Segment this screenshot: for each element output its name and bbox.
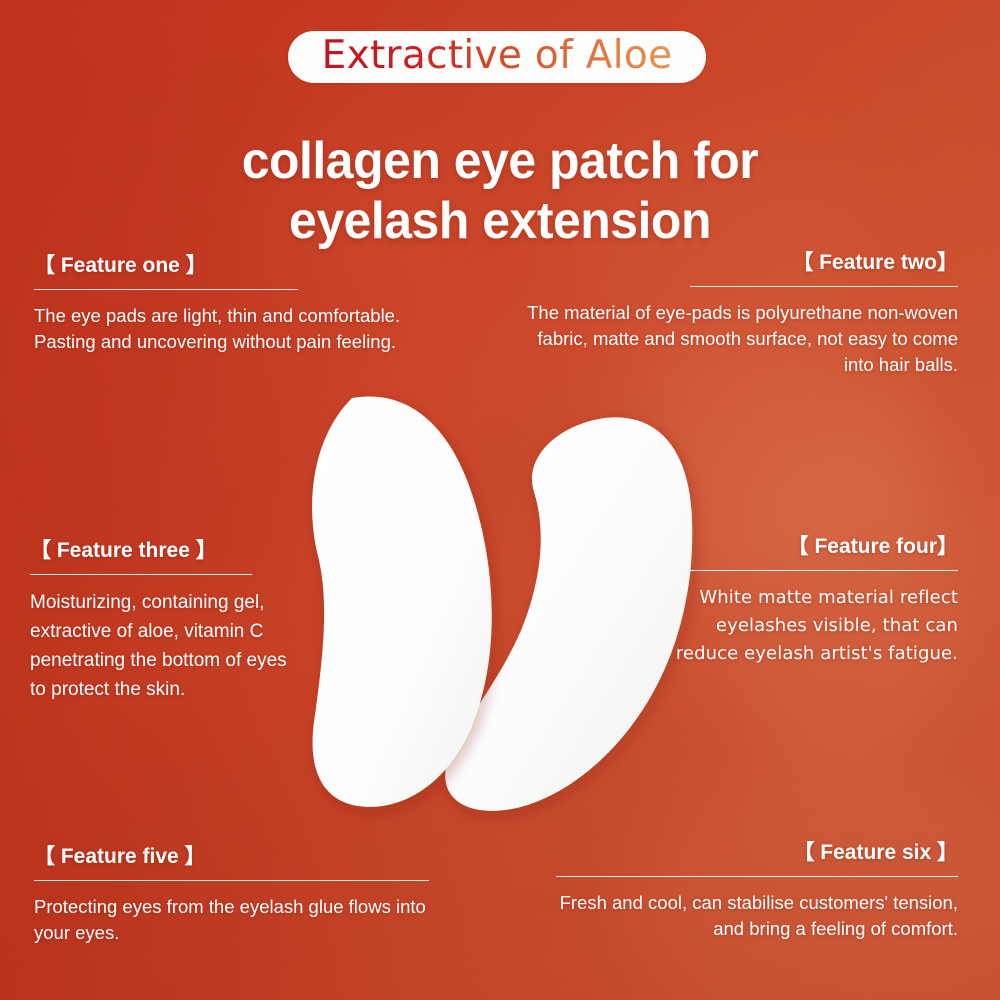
feature-one-heading: 【 Feature one 】 [34,253,304,279]
feature-two-heading: 【 Feature two】 [690,250,958,276]
feature-six-divider [556,876,958,877]
poster-content: Extractive of Aloe collagen eye patch fo… [0,0,1000,1000]
aloe-badge-label: Extractive of Aloe [322,36,673,79]
product-feature-poster: Extractive of Aloe collagen eye patch fo… [0,0,1000,1000]
feature-block-three: 【 Feature three 】 Moisturizing, containi… [30,538,288,704]
feature-four-body: White matte material reflect eyelashes v… [658,584,958,668]
feature-two-body: The material of eye-pads is polyurethane… [518,300,958,378]
feature-three-divider [30,574,252,575]
aloe-badge: Extractive of Aloe [288,31,706,83]
feature-one-divider [34,289,298,290]
feature-five-divider [34,880,429,881]
feature-three-body: Moisturizing, containing gel, extractive… [30,588,288,704]
page-title-line-2: eyelash extension [20,191,980,251]
page-title-line-1: collagen eye patch for [20,131,980,191]
feature-six-body: Fresh and cool, can stabilise customers'… [538,890,958,942]
feature-two-divider [690,286,958,287]
feature-four-divider [690,570,958,571]
feature-five-heading: 【 Feature five 】 [34,844,432,870]
feature-block-five: 【 Feature five 】 Protecting eyes from th… [34,844,432,946]
feature-block-two: 【 Feature two】 The material of eye-pads … [690,250,958,378]
page-title: collagen eye patch for eyelash extension [0,131,1000,251]
feature-one-body: The eye pads are light, thin and comfort… [34,303,426,355]
feature-six-heading: 【 Feature six 】 [556,840,958,866]
feature-five-body: Protecting eyes from the eyelash glue fl… [34,894,444,946]
feature-four-heading: 【 Feature four】 [690,534,958,560]
feature-block-six: 【 Feature six 】 Fresh and cool, can stab… [556,840,958,942]
feature-block-one: 【 Feature one 】 The eye pads are light, … [34,253,304,355]
feature-block-four: 【 Feature four】 White matte material ref… [690,534,958,668]
feature-three-heading: 【 Feature three 】 [30,538,288,564]
